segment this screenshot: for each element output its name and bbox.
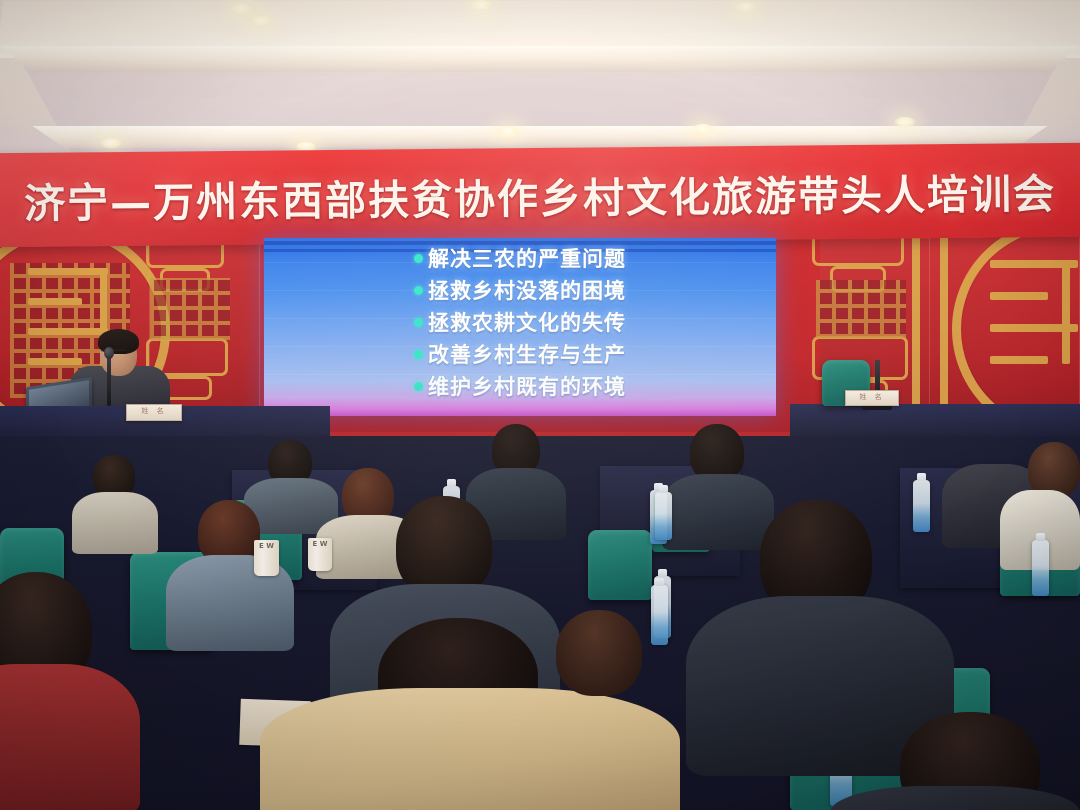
microphone-stand-left <box>107 352 111 406</box>
ceiling-downlight <box>692 124 714 135</box>
conference-photo: 济宁—万州东西部扶贫协作乡村文化旅游带头人培训会 解决三农的严重问题 拯救乡村没… <box>0 0 1080 810</box>
slide-bullet-item: 拯救乡村没落的困境 <box>414 276 764 304</box>
bullet-text: 解决三农的严重问题 <box>428 243 626 273</box>
microphone-head-left <box>104 347 114 359</box>
stage-nameplate-right: 姓 名 <box>845 390 899 406</box>
ceiling-downlight <box>497 126 519 137</box>
bullet-dot-icon <box>414 318 423 327</box>
bullet-dot-icon <box>414 350 423 359</box>
slide-bullet-item: 维护乡村既有的环境 <box>414 372 764 400</box>
ceiling-downlight <box>470 0 492 11</box>
ceiling-band-1 <box>0 46 1080 72</box>
audience-chair <box>588 530 652 600</box>
audience-head <box>556 610 642 696</box>
audience-torso <box>0 664 140 810</box>
stage-nameplate-left-text: 姓 名 <box>127 405 181 418</box>
audience-torso <box>260 688 680 810</box>
water-bottle <box>655 492 672 540</box>
audience-torso <box>72 492 158 554</box>
bullet-text: 改善乡村生存与生产 <box>428 339 626 369</box>
water-bottle <box>651 585 668 645</box>
bullet-text: 拯救农耕文化的失传 <box>428 307 626 337</box>
water-bottle <box>1032 540 1049 596</box>
slide-bullet-item: 改善乡村生存与生产 <box>414 340 764 368</box>
bullet-text: 维护乡村既有的环境 <box>428 371 626 401</box>
slide-bullet-item: 解决三农的严重问题 <box>414 244 764 272</box>
projection-screen: 解决三农的严重问题 拯救乡村没落的困境 拯救农耕文化的失传 改善乡村生存与生产 … <box>264 238 776 416</box>
stage-nameplate-left: 姓 名 <box>126 404 182 421</box>
event-banner: 济宁—万州东西部扶贫协作乡村文化旅游带头人培训会 <box>0 143 1080 248</box>
ceiling-downlight <box>735 2 757 13</box>
paper-cup-text: E W <box>254 540 279 550</box>
ceiling-downlight <box>250 16 272 27</box>
slide-bullet-item: 拯救农耕文化的失传 <box>414 308 764 336</box>
ceiling-downlight <box>100 138 122 149</box>
audience-head <box>396 496 492 598</box>
slide-bullet-list: 解决三农的严重问题 拯救乡村没落的困境 拯救农耕文化的失传 改善乡村生存与生产 … <box>414 244 764 404</box>
paper-cup-text: E W <box>308 538 332 548</box>
paper-cup: E W <box>254 540 279 576</box>
bullet-text: 拯救乡村没落的困境 <box>428 275 626 305</box>
bullet-dot-icon <box>414 254 423 263</box>
paper-cup: E W <box>308 538 332 571</box>
bullet-dot-icon <box>414 382 423 391</box>
ceiling-downlight <box>230 4 252 15</box>
stage-nameplate-right-text: 姓 名 <box>846 391 898 404</box>
banner-title: 济宁—万州东西部扶贫协作乡村文化旅游带头人培训会 <box>24 160 1057 230</box>
bullet-dot-icon <box>414 286 423 295</box>
ceiling-downlight <box>894 117 916 128</box>
audience-torso <box>662 474 774 550</box>
water-bottle <box>913 480 930 532</box>
